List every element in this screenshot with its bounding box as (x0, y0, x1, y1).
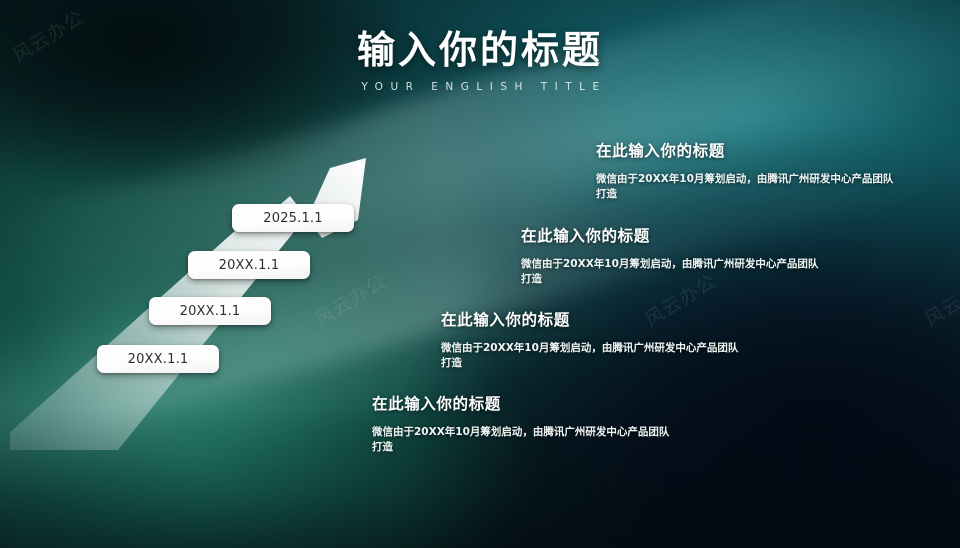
page-title: 输入你的标题 (0, 28, 960, 74)
page-subtitle: YOUR ENGLISH TITLE (0, 81, 960, 93)
content-block-body: 微信由于20XX年10月筹划启动，由腾讯广州研发中心产品团队打造 (441, 341, 741, 371)
timeline-date-card[interactable]: 20XX.1.1 (97, 345, 219, 373)
timeline-date-card[interactable]: 20XX.1.1 (188, 251, 310, 279)
presentation-slide: 风云办公风云办公风云办公风云办公风云办公 输入你的标题 YOUR ENGLISH… (0, 0, 960, 548)
content-block-heading: 在此输入你的标题 (521, 224, 821, 246)
content-block-heading: 在此输入你的标题 (596, 139, 896, 161)
content-block-body: 微信由于20XX年10月筹划启动，由腾讯广州研发中心产品团队打造 (521, 257, 821, 287)
content-block: 在此输入你的标题微信由于20XX年10月筹划启动，由腾讯广州研发中心产品团队打造 (441, 308, 741, 371)
content-block: 在此输入你的标题微信由于20XX年10月筹划启动，由腾讯广州研发中心产品团队打造 (596, 139, 896, 202)
timeline-date-card[interactable]: 2025.1.1 (232, 204, 354, 232)
content-block: 在此输入你的标题微信由于20XX年10月筹划启动，由腾讯广州研发中心产品团队打造 (372, 392, 672, 455)
content-block-body: 微信由于20XX年10月筹划启动，由腾讯广州研发中心产品团队打造 (372, 425, 672, 455)
content-block-heading: 在此输入你的标题 (441, 308, 741, 330)
slide-title-block: 输入你的标题 YOUR ENGLISH TITLE (0, 28, 960, 93)
timeline-date-card[interactable]: 20XX.1.1 (149, 297, 271, 325)
content-block: 在此输入你的标题微信由于20XX年10月筹划启动，由腾讯广州研发中心产品团队打造 (521, 224, 821, 287)
content-block-heading: 在此输入你的标题 (372, 392, 672, 414)
content-block-body: 微信由于20XX年10月筹划启动，由腾讯广州研发中心产品团队打造 (596, 172, 896, 202)
